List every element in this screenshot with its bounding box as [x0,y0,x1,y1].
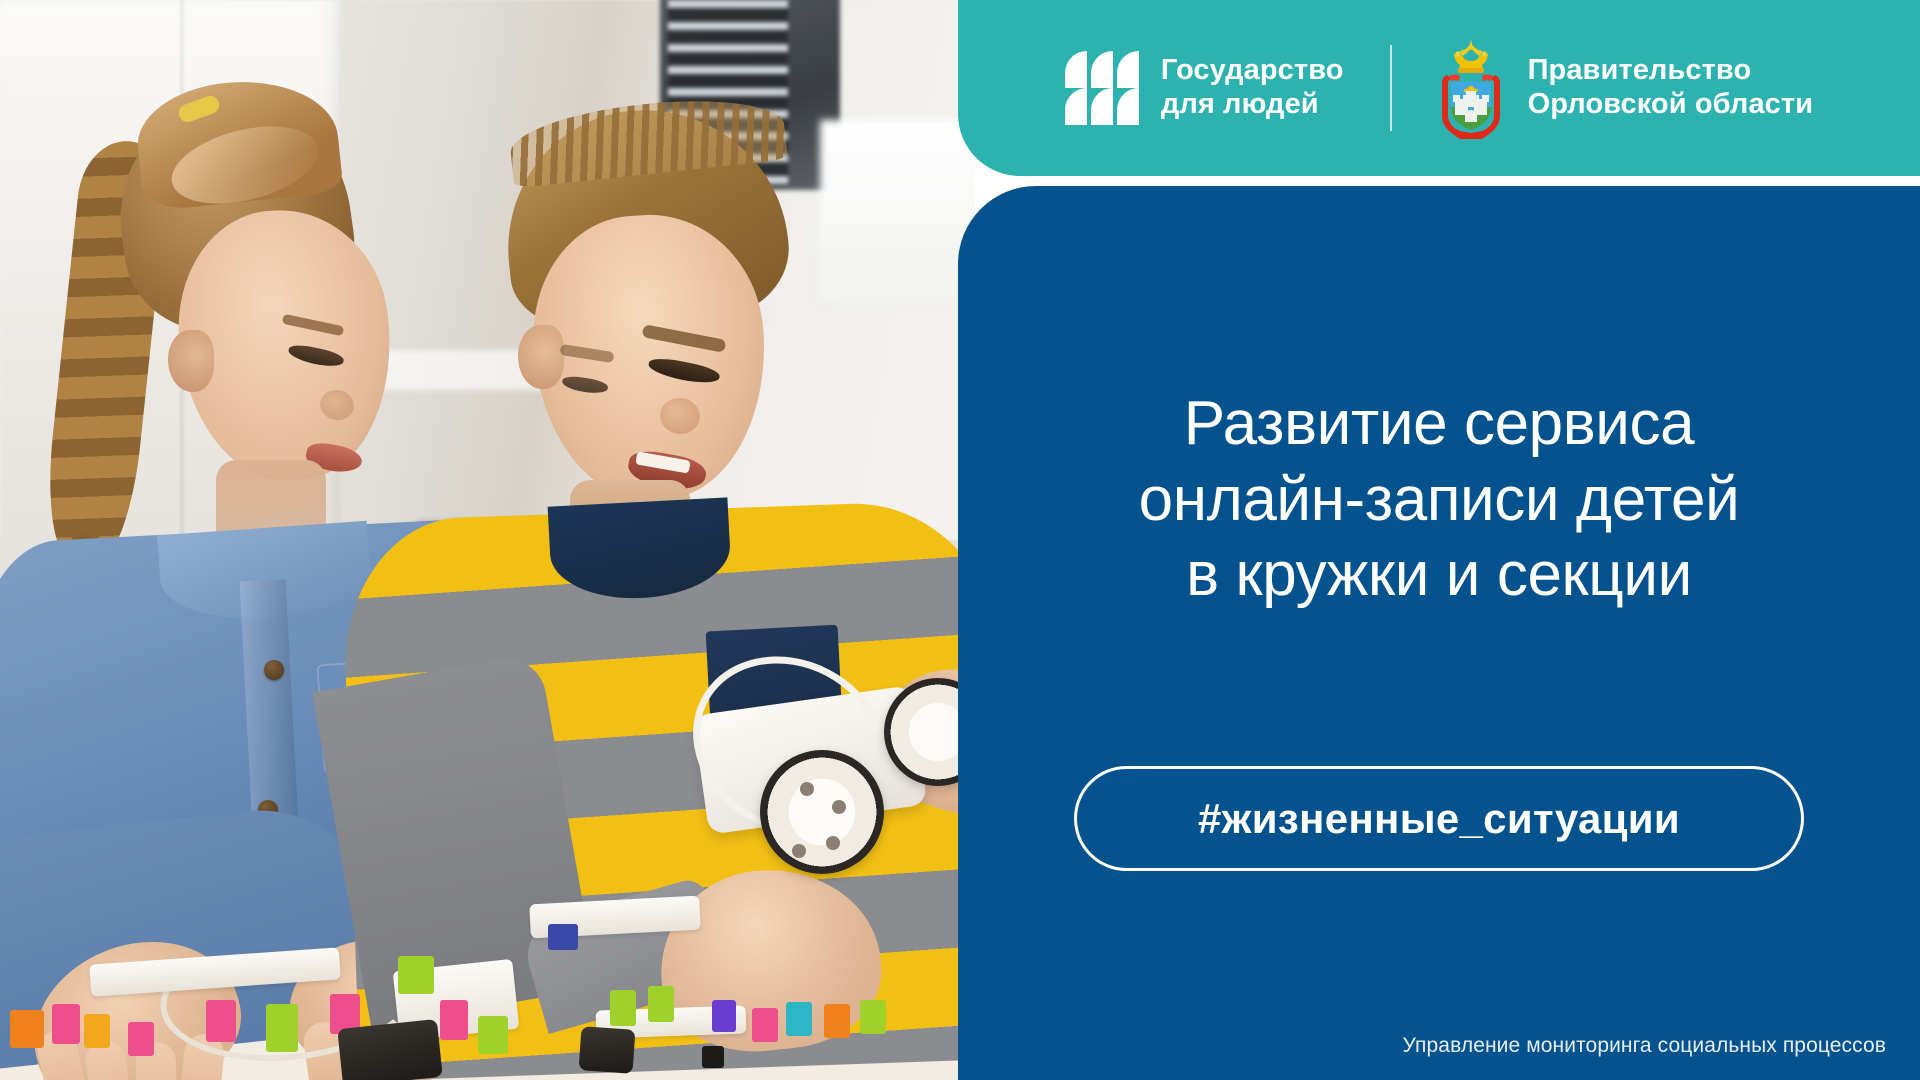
girl-ear [168,330,214,392]
component-chip [398,956,434,994]
region-logo-text: Правительство Орловской области [1528,54,1814,121]
motor-block [337,1019,443,1080]
component-chip [610,990,636,1026]
region-logo-line2: Орловской области [1528,88,1814,122]
region-logo-line1: Правительство [1528,54,1814,88]
logo-row: Государство для людей [1065,37,1813,139]
orel-oblast-coat-of-arms-icon [1438,37,1504,139]
component-chip [84,1014,110,1048]
girl-shirt-button [264,660,284,680]
component-chip [712,1000,736,1032]
component-chip [478,1016,508,1054]
region-logo[interactable]: Правительство Орловской области [1438,37,1814,139]
child-boy [410,110,975,1080]
component-chip [860,1000,886,1034]
footer-department-label: Управление мониторинга социальных процес… [1403,1034,1886,1058]
boy-ear [518,325,564,389]
content-panel: Развитие сервиса онлайн-записи детей в к… [958,186,1920,1080]
hero-photo [0,0,975,1080]
component-chip [752,1008,778,1042]
headline-line-2: онлайн-записи детей [1010,462,1868,538]
logo-divider [1390,45,1392,131]
hashtag-button[interactable]: #жизненные_ситуации [1074,766,1804,871]
headline-line-3: в кружки и секции [1010,537,1868,613]
gov-logo-line1: Государство [1161,54,1344,88]
header-panel: Государство для людей [958,0,1920,176]
component-chip [206,1000,236,1042]
component-chip [786,1002,812,1036]
wheel-hole [832,800,846,814]
component-chip [548,924,578,950]
robot-wheel [760,750,884,874]
component-chip [266,1004,298,1052]
wheel-hole [826,836,840,850]
headline-line-1: Развитие сервиса [1010,386,1868,462]
motor-block [579,1026,636,1074]
component-chip [824,1004,850,1038]
component-chip [440,1000,468,1040]
gov-logo-line2: для людей [1161,88,1344,122]
gov-logo-text: Государство для людей [1161,54,1344,121]
gov-logo[interactable]: Государство для людей [1065,51,1344,125]
component-chip [10,1010,44,1048]
gosuslugi-flag-mark-icon [1065,51,1139,125]
component-chip [128,1022,154,1056]
page-title: Развитие сервиса онлайн-записи детей в к… [958,386,1920,613]
component-chip [702,1046,724,1068]
wheel-hole [800,782,814,796]
wheel-hole [792,844,806,858]
component-chip [52,1004,80,1044]
component-chip [648,986,674,1022]
